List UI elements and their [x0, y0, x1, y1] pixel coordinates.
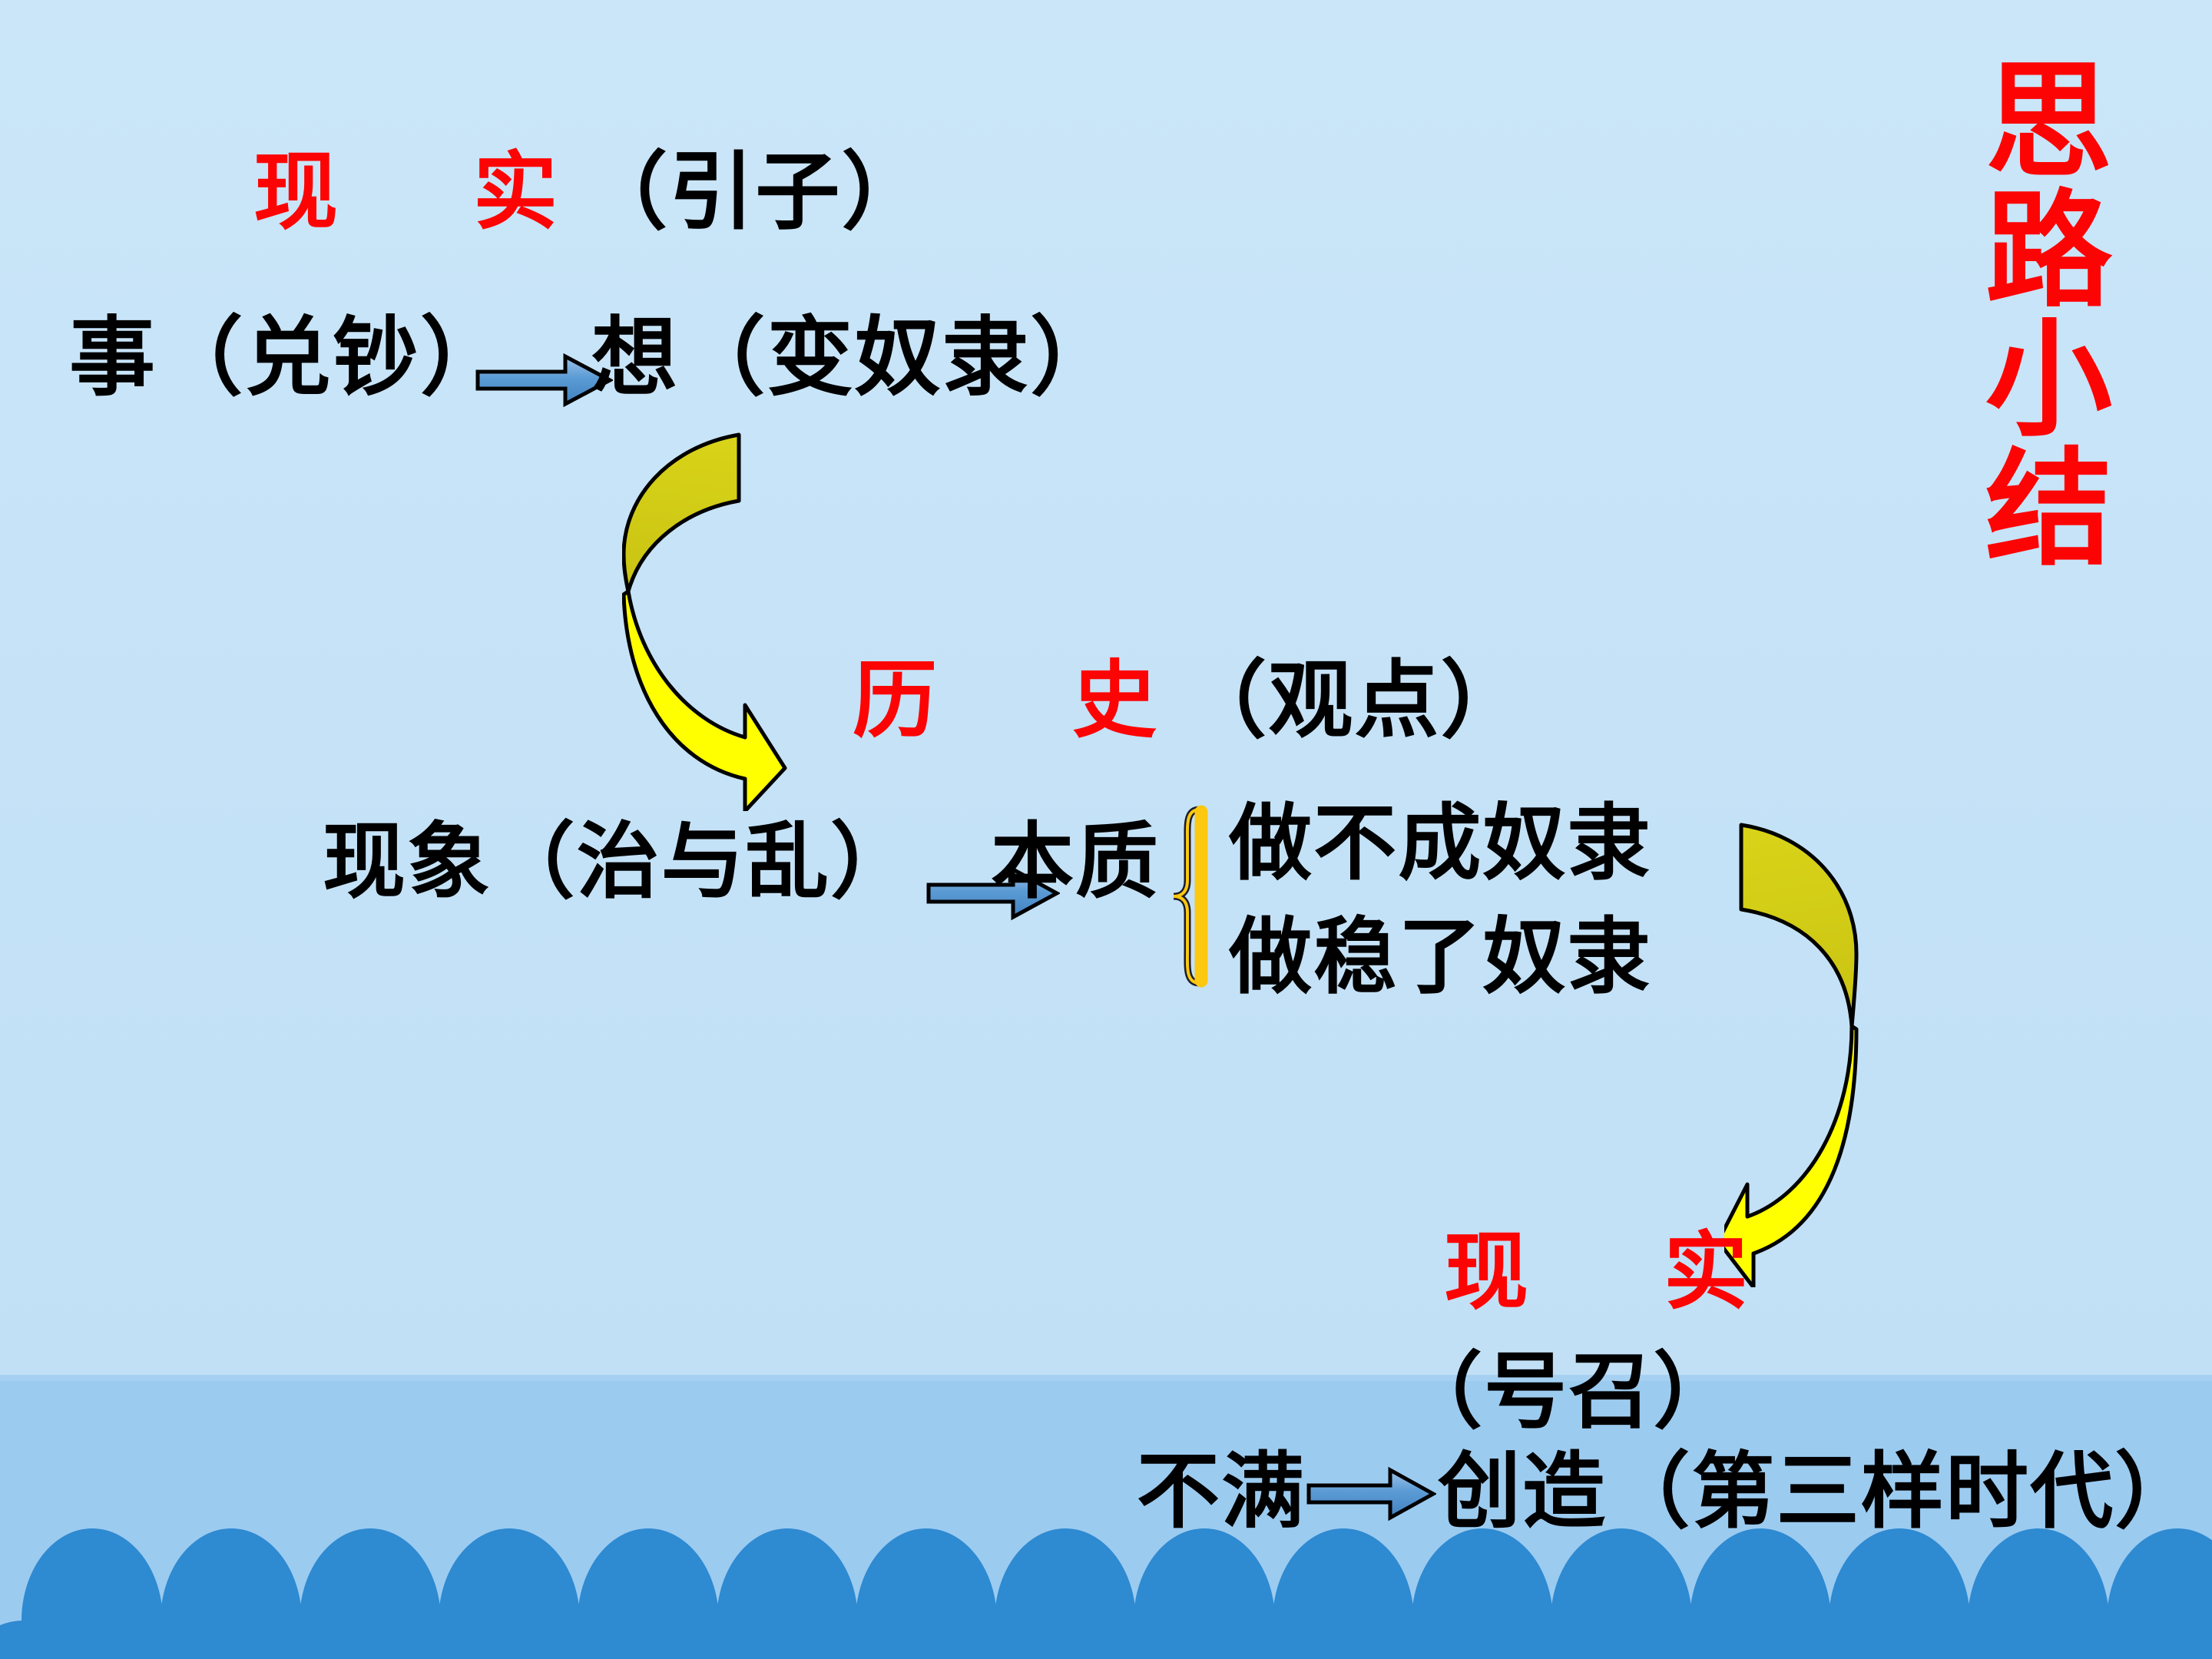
history-brace-item-2: 做稳了奴隶	[1229, 916, 1652, 998]
reality-call-right-term: 创造（第三样时代）	[1438, 1450, 2199, 1533]
scallop-decoration-row-bottom	[0, 1621, 2212, 1659]
section-reality-intro-heading: 现 实（引子）	[253, 151, 928, 235]
scallop-bump	[1204, 1621, 1345, 1659]
curved-arrow-icon-down-left	[1724, 811, 1955, 1287]
history-brace-item-1: 做不成奴隶	[1229, 802, 1652, 885]
history-right-term: 本质	[991, 820, 1160, 903]
section-reality-intro-heading-black: （引子）	[583, 145, 928, 240]
curved-arrow-icon-down-right	[622, 427, 853, 811]
section-history-heading: 历 史（观点）	[853, 659, 1527, 743]
scallop-bump	[508, 1621, 650, 1659]
scallop-bump	[0, 1621, 94, 1659]
history-left-term: 现象（治与乱）	[323, 820, 915, 903]
background-band-seam	[0, 1375, 2212, 1381]
reality-intro-right-term: 想（变奴隶）	[591, 315, 1118, 401]
right-arrow-icon-3	[1306, 1465, 1436, 1522]
scallop-bump	[926, 1621, 1067, 1659]
reality-intro-left-term: 事（兑钞）	[69, 315, 508, 401]
section-history-heading-red: 历 史	[853, 654, 1182, 748]
reality-call-left-term: 不满	[1137, 1450, 1306, 1533]
scallop-bump	[786, 1621, 928, 1659]
scallop-bump	[91, 1621, 233, 1659]
scallop-bump	[1065, 1621, 1206, 1659]
scallop-bump	[2177, 1621, 2212, 1659]
scallop-bump	[1899, 1621, 2040, 1659]
scallop-bump	[1343, 1621, 1484, 1659]
slide-canvas: 思路小结 现 实（引子） 事（兑钞） 想（变奴隶）	[0, 0, 2212, 1659]
scallop-bump	[230, 1621, 372, 1659]
scallop-bump	[1482, 1621, 1623, 1659]
curly-brace-icon	[1169, 805, 1218, 988]
scallop-bump	[369, 1621, 511, 1659]
scallop-bump	[647, 1621, 789, 1659]
scallop-bump	[1621, 1621, 1762, 1659]
section-history-heading-black: （观点）	[1182, 654, 1527, 748]
section-reality-intro-heading-red: 现 实	[253, 145, 583, 240]
page-title-vertical: 思路小结	[1960, 54, 2106, 571]
scallop-bump	[1760, 1621, 1901, 1659]
section-reality-call-heading-red: 现 实	[1444, 1230, 1773, 1315]
section-reality-call-heading-black: （号召）	[1399, 1350, 1738, 1433]
scallop-bump	[2038, 1621, 2179, 1659]
